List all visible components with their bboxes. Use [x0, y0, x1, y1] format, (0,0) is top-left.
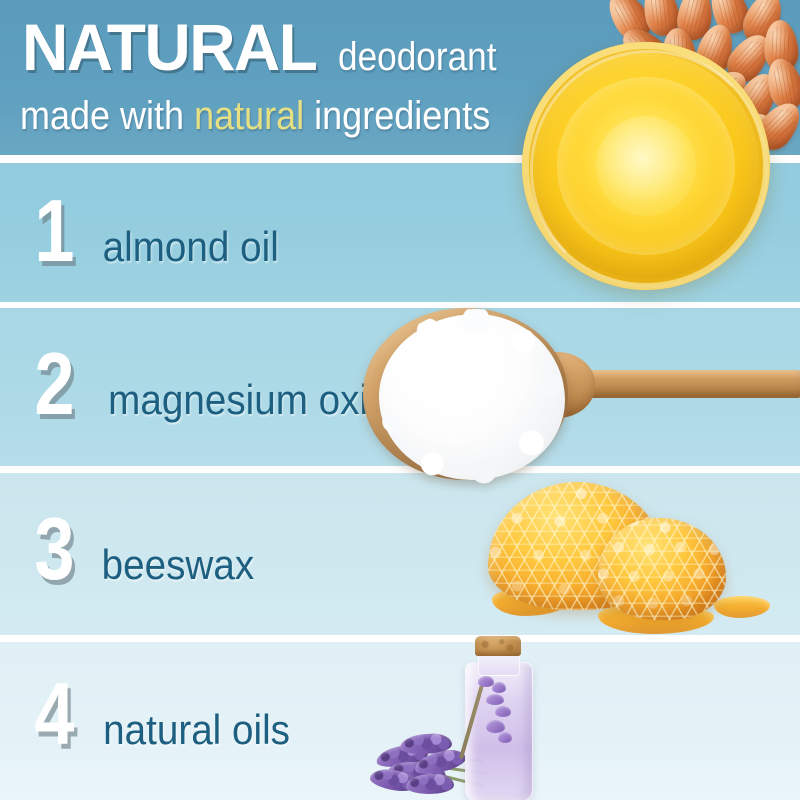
ingredient-name: almond oil: [103, 226, 279, 268]
row-separator: [0, 635, 800, 642]
subheadline-suffix: ingredients: [304, 94, 490, 138]
headline-light-word: deodorant: [338, 37, 497, 77]
ingredient-number: 2: [34, 340, 74, 428]
ingredient-number: 4: [34, 670, 74, 758]
ingredient-label-group: 4 natural oils: [30, 670, 298, 758]
ingredient-name: beeswax: [102, 544, 255, 586]
subheadline: made with natural ingredients: [20, 96, 490, 136]
header-banner: NATURAL deodorant made with natural ingr…: [0, 0, 800, 155]
ingredient-name: natural oils: [103, 709, 290, 751]
ingredient-row-4: 4 natural oils: [0, 642, 800, 800]
ingredient-row-1: 1 almond oil: [0, 163, 800, 302]
ingredient-label-group: 2 magnesium oxide: [30, 340, 424, 428]
ingredient-row-3: 3 beeswax: [0, 473, 800, 635]
row-separator: [0, 155, 800, 163]
infographic-poster: NATURAL deodorant made with natural ingr…: [0, 0, 800, 800]
row-separator: [0, 302, 800, 308]
subheadline-prefix: made with: [20, 94, 194, 138]
headline: NATURAL deodorant: [22, 16, 518, 79]
row-separator: [0, 466, 800, 473]
ingredient-row-2: 2 magnesium oxide: [0, 308, 800, 466]
ingredient-label-group: 3 beeswax: [30, 505, 261, 593]
headline-strong-word: NATURAL: [22, 16, 316, 79]
ingredient-label-group: 1 almond oil: [30, 187, 286, 275]
ingredient-number: 1: [34, 187, 74, 275]
ingredient-name: magnesium oxide: [108, 379, 411, 421]
ingredient-number: 3: [34, 505, 74, 593]
subheadline-highlight: natural: [194, 94, 304, 138]
